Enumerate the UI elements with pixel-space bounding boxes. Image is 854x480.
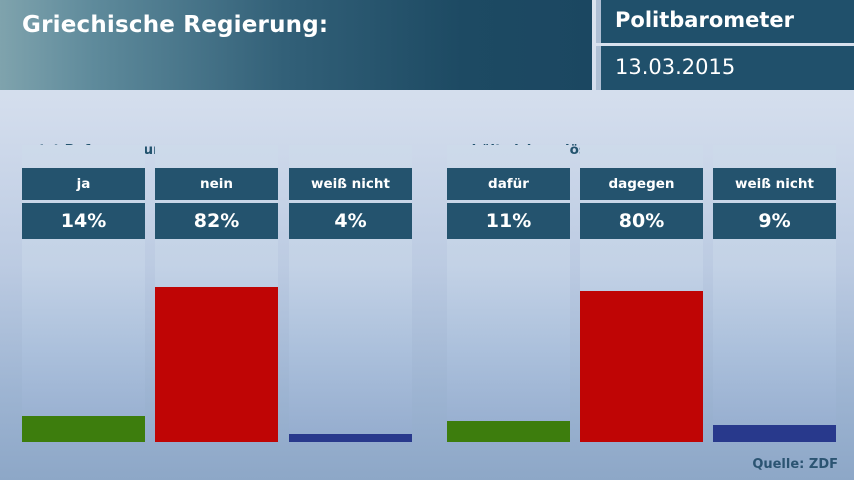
column-label: nein (155, 168, 278, 200)
bar-ja (22, 416, 145, 442)
bar-weiss-nicht-1 (289, 434, 412, 442)
column-value: 80% (580, 203, 703, 239)
column-label: dafür (447, 168, 570, 200)
column-value: 11% (447, 203, 570, 239)
date-label: 13.03.2015 (615, 55, 735, 79)
column-value: 4% (289, 203, 412, 239)
politbarometer-chart-screen: Griechische Regierung: Politbarometer 13… (0, 0, 854, 480)
column-label: weiß nicht (713, 168, 836, 200)
header-left-band: Griechische Regierung: (0, 0, 592, 90)
column-weiss-nicht-2: weiß nicht 9% (713, 145, 836, 445)
date-banner: 13.03.2015 (596, 46, 854, 90)
column-label: weiß nicht (289, 168, 412, 200)
source-label: Quelle: ZDF (752, 457, 838, 472)
chart-area: setzt Reformen um … verhält sich seriös … (0, 90, 854, 480)
column-weiss-nicht-1: weiß nicht 4% (289, 145, 412, 445)
column-value: 9% (713, 203, 836, 239)
column-label: ja (22, 168, 145, 200)
brand-banner: Politbarometer (596, 0, 854, 43)
column-dagegen: dagegen 80% (580, 145, 703, 445)
column-nein: nein 82% (155, 145, 278, 445)
brand-label: Politbarometer (615, 8, 794, 32)
column-value: 82% (155, 203, 278, 239)
bar-dafuer (447, 421, 570, 442)
column-value: 14% (22, 203, 145, 239)
bar-dagegen (580, 291, 703, 442)
header-right-panel: Politbarometer 13.03.2015 (596, 0, 854, 90)
bar-nein (155, 287, 278, 442)
column-dafuer: dafür 11% (447, 145, 570, 445)
page-title: Griechische Regierung: (22, 12, 328, 38)
column-ja: ja 14% (22, 145, 145, 445)
bar-weiss-nicht-2 (713, 425, 836, 442)
column-label: dagegen (580, 168, 703, 200)
